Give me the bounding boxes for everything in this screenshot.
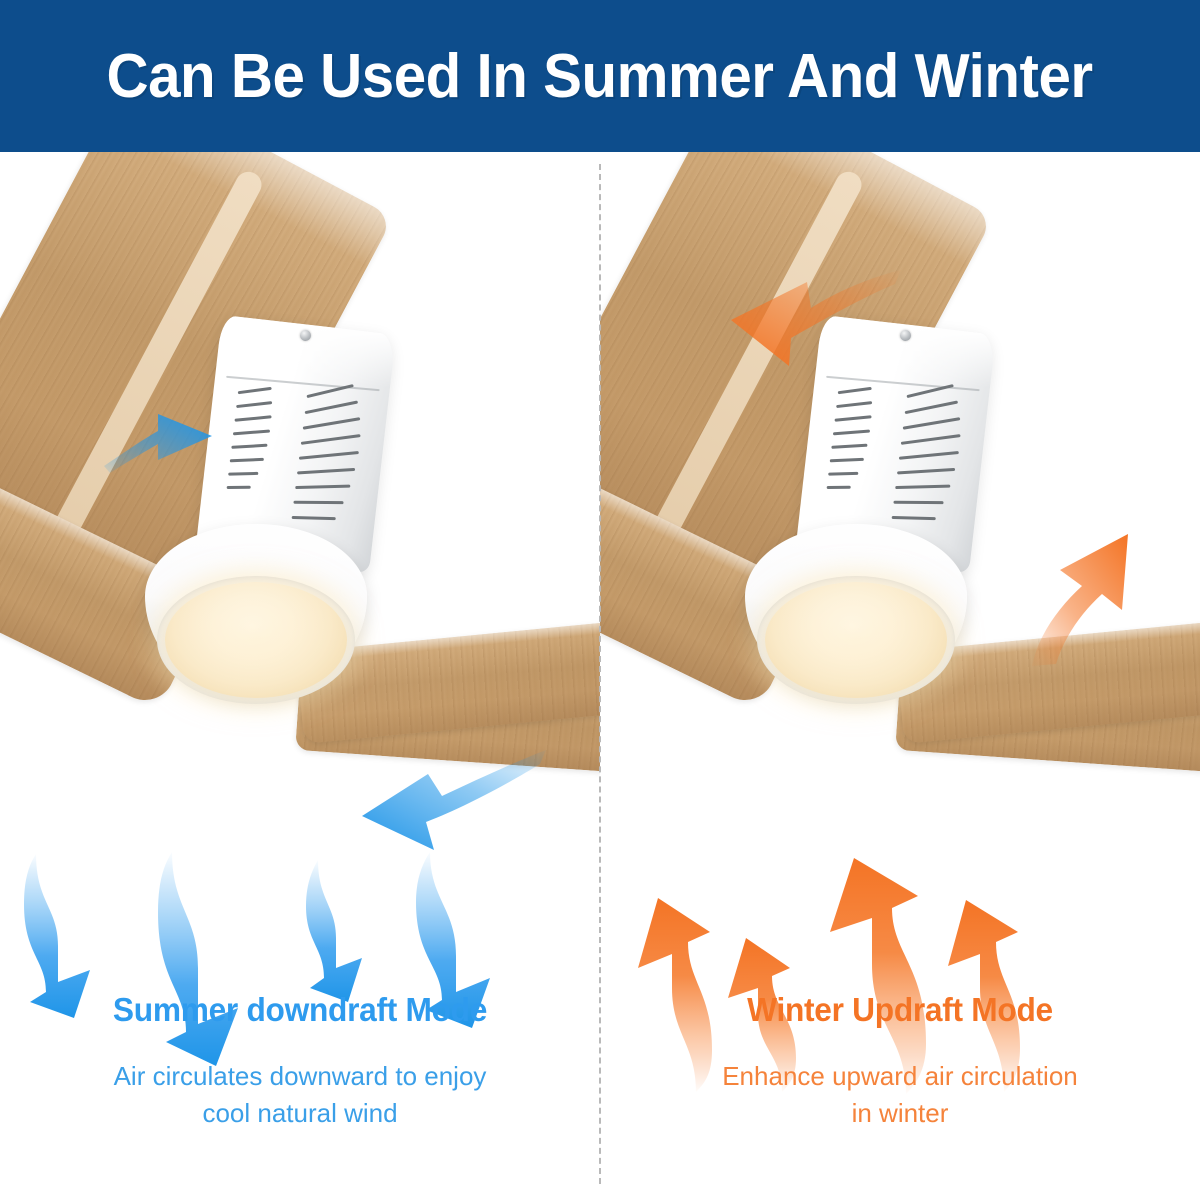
mode-title-winter: Winter Updraft Mode — [612, 990, 1188, 1030]
mode-description-summer: Air circulates downward to enjoy cool na… — [0, 1058, 600, 1132]
caption-summer: Summer downdraft Mode Air circulates dow… — [0, 990, 600, 1131]
panel-winter: Winter Updraft Mode Enhance upward air c… — [600, 152, 1200, 1200]
blade-rotation-arrow-bottom — [1024, 520, 1164, 670]
panel-summer: Summer downdraft Mode Air circulates dow… — [0, 152, 600, 1200]
header-banner: Can Be Used In Summer And Winter — [0, 0, 1200, 152]
panel-divider — [599, 164, 601, 1184]
led-light-module — [145, 524, 367, 724]
blade-rotation-arrow-top — [100, 374, 230, 479]
led-diffuser — [165, 582, 347, 698]
caption-winter: Winter Updraft Mode Enhance upward air c… — [600, 990, 1200, 1131]
mode-description-line1: Enhance upward air circulation — [722, 1061, 1078, 1091]
mode-description-line1: Air circulates downward to enjoy — [114, 1061, 487, 1091]
infographic-page: Can Be Used In Summer And Winter — [0, 0, 1200, 1200]
blade-rotation-arrow-top — [715, 262, 905, 377]
ceiling-fan-illustration-winter — [600, 152, 1200, 852]
mode-description-winter: Enhance upward air circulation in winter — [600, 1058, 1200, 1132]
mode-description-line2: cool natural wind — [202, 1098, 397, 1128]
mode-title-summer: Summer downdraft Mode — [12, 990, 588, 1030]
page-title: Can Be Used In Summer And Winter — [107, 41, 1093, 112]
mode-description-line2: in winter — [852, 1098, 949, 1128]
comparison-panels: Summer downdraft Mode Air circulates dow… — [0, 152, 1200, 1200]
led-diffuser — [765, 582, 947, 698]
led-light-module — [745, 524, 967, 724]
